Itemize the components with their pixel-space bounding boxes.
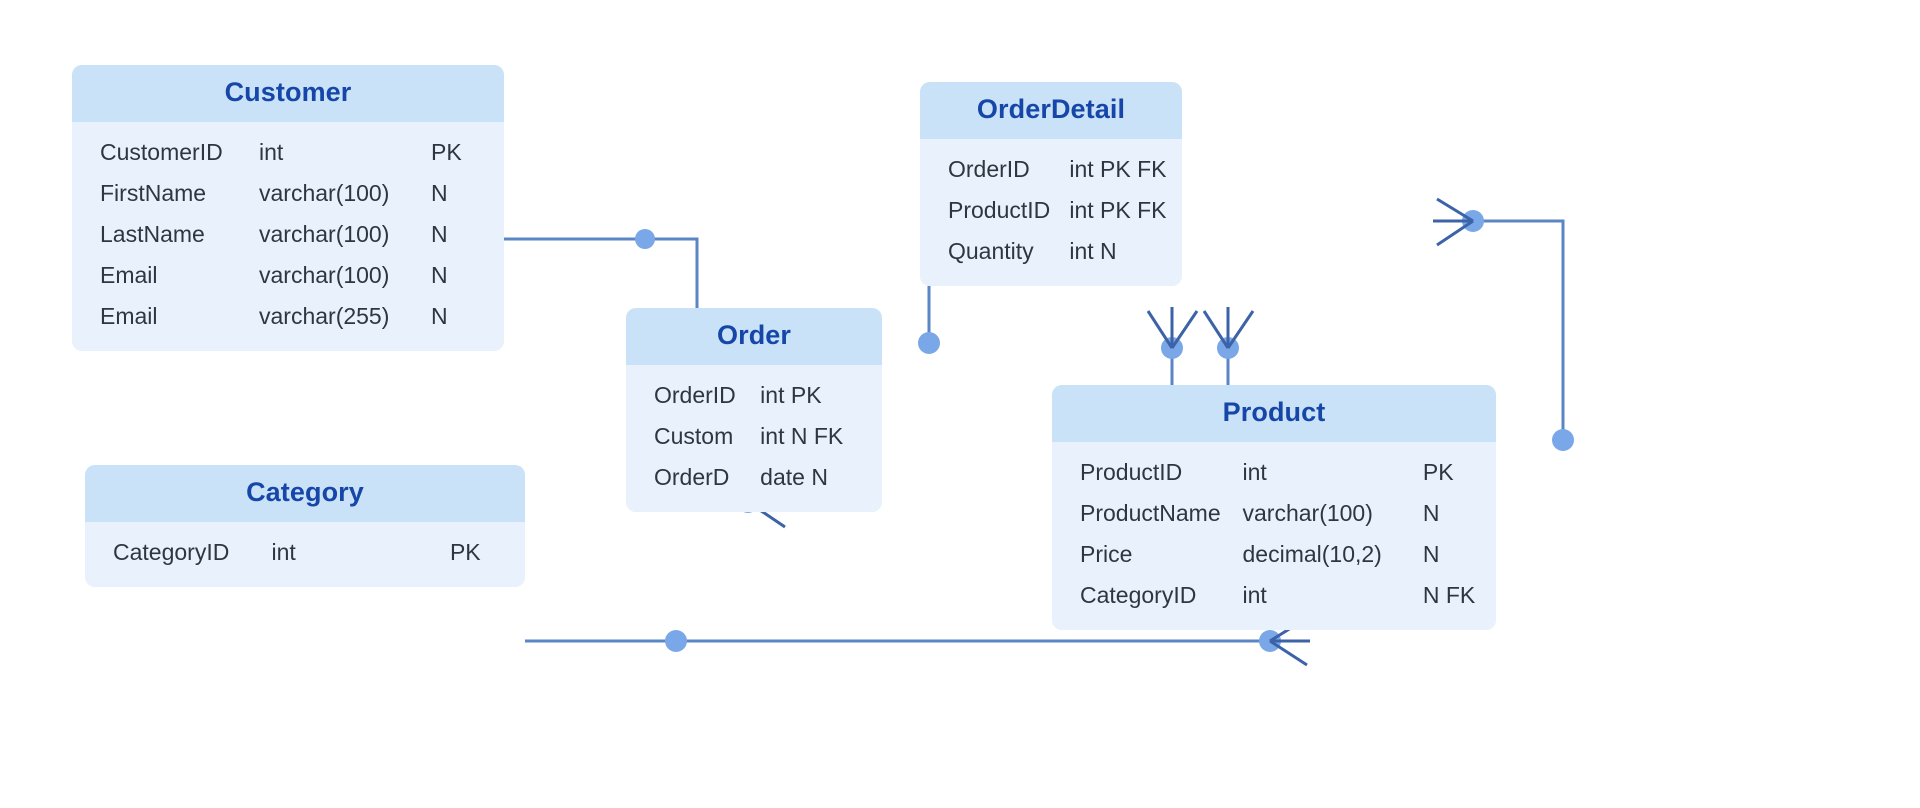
attribute-key: N bbox=[1423, 543, 1496, 566]
attribute-row[interactable]: CategoryID int PK bbox=[85, 532, 525, 573]
edge-endpoint-dot bbox=[1259, 630, 1281, 652]
attribute-type: int bbox=[271, 541, 449, 564]
attribute-name: OrderID bbox=[626, 384, 760, 407]
edge-endpoint-dot bbox=[1462, 210, 1484, 232]
attribute-key: N bbox=[431, 182, 504, 205]
attribute-type: varchar(100) bbox=[259, 182, 431, 205]
attribute-type: int bbox=[1243, 584, 1423, 607]
attribute-row[interactable]: ProductName varchar(100) N bbox=[1052, 493, 1496, 534]
attribute-type: varchar(255) bbox=[259, 305, 431, 328]
attribute-type: decimal(10,2) bbox=[1243, 543, 1423, 566]
attribute-row[interactable]: OrderID int PK bbox=[626, 375, 882, 416]
attribute-key: PK bbox=[450, 541, 525, 564]
entity-customer[interactable]: Customer CustomerID int PK FirstName var… bbox=[72, 65, 504, 351]
crowsfoot-marker bbox=[1148, 307, 1197, 348]
attribute-name: Price bbox=[1052, 543, 1243, 566]
attribute-type: int N FK bbox=[760, 425, 882, 448]
attribute-type: int PK FK bbox=[1069, 158, 1182, 181]
attribute-name: FirstName bbox=[72, 182, 259, 205]
entity-attributes-product: ProductID int PK ProductName varchar(100… bbox=[1052, 442, 1496, 630]
attribute-name: CustomerID bbox=[72, 141, 259, 164]
attribute-type: int bbox=[1243, 461, 1423, 484]
entity-attributes-category: CategoryID int PK bbox=[85, 522, 525, 587]
attribute-name: Email bbox=[72, 264, 259, 287]
attribute-name: CategoryID bbox=[85, 541, 271, 564]
attribute-row[interactable]: CategoryID int N FK bbox=[1052, 575, 1496, 616]
attribute-key: PK bbox=[431, 141, 504, 164]
attribute-key: N bbox=[431, 264, 504, 287]
entity-title-orderdetail: OrderDetail bbox=[920, 82, 1182, 139]
entity-category[interactable]: Category CategoryID int PK bbox=[85, 465, 525, 587]
crowsfoot-marker bbox=[1204, 307, 1253, 348]
attribute-row[interactable]: Quantity int N bbox=[920, 231, 1182, 272]
entity-title-category: Category bbox=[85, 465, 525, 522]
attribute-type: date N bbox=[760, 466, 882, 489]
edge-endpoint-dot bbox=[635, 229, 655, 249]
attribute-key: N bbox=[431, 305, 504, 328]
attribute-row[interactable]: Custom int N FK bbox=[626, 416, 882, 457]
attribute-name: LastName bbox=[72, 223, 259, 246]
attribute-name: ProductID bbox=[920, 199, 1069, 222]
attribute-name: ProductName bbox=[1052, 502, 1243, 525]
entity-product[interactable]: Product ProductID int PK ProductName var… bbox=[1052, 385, 1496, 630]
attribute-name: Quantity bbox=[920, 240, 1069, 263]
attribute-type: varchar(100) bbox=[259, 264, 431, 287]
attribute-name: OrderID bbox=[920, 158, 1069, 181]
attribute-type: int N bbox=[1069, 240, 1182, 263]
edge-endpoint-dot bbox=[1161, 337, 1183, 359]
edge-endpoint-dot bbox=[665, 630, 687, 652]
entity-order[interactable]: Order OrderID int PK Custom int N FK Ord… bbox=[626, 308, 882, 512]
attribute-row[interactable]: ProductID int PK bbox=[1052, 452, 1496, 493]
attribute-row[interactable]: LastName varchar(100) N bbox=[72, 214, 504, 255]
attribute-name: Custom bbox=[626, 425, 760, 448]
attribute-name: Email bbox=[72, 305, 259, 328]
attribute-key: N bbox=[1423, 502, 1496, 525]
entity-attributes-orderdetail: OrderID int PK FK ProductID int PK FK Qu… bbox=[920, 139, 1182, 286]
edge-endpoint-dot bbox=[1552, 429, 1574, 451]
entity-attributes-order: OrderID int PK Custom int N FK OrderD da… bbox=[626, 365, 882, 512]
attribute-name: CategoryID bbox=[1052, 584, 1243, 607]
attribute-key: N FK bbox=[1423, 584, 1496, 607]
attribute-row[interactable]: OrderID int PK FK bbox=[920, 149, 1182, 190]
attribute-row[interactable]: OrderD date N bbox=[626, 457, 882, 498]
edge-endpoint-dot bbox=[1217, 337, 1239, 359]
entity-title-customer: Customer bbox=[72, 65, 504, 122]
attribute-type: int PK FK bbox=[1069, 199, 1182, 222]
attribute-type: int bbox=[259, 141, 431, 164]
attribute-row[interactable]: FirstName varchar(100) N bbox=[72, 173, 504, 214]
entity-orderdetail[interactable]: OrderDetail OrderID int PK FK ProductID … bbox=[920, 82, 1182, 286]
attribute-row[interactable]: ProductID int PK FK bbox=[920, 190, 1182, 231]
attribute-type: varchar(100) bbox=[259, 223, 431, 246]
attribute-row[interactable]: Email varchar(255) N bbox=[72, 296, 504, 337]
attribute-key: PK bbox=[1423, 461, 1496, 484]
attribute-row[interactable]: CustomerID int PK bbox=[72, 132, 504, 173]
entity-title-order: Order bbox=[626, 308, 882, 365]
attribute-type: varchar(100) bbox=[1243, 502, 1423, 525]
attribute-name: ProductID bbox=[1052, 461, 1243, 484]
attribute-row[interactable]: Email varchar(100) N bbox=[72, 255, 504, 296]
attribute-row[interactable]: Price decimal(10,2) N bbox=[1052, 534, 1496, 575]
attribute-key: N bbox=[431, 223, 504, 246]
attribute-type: int PK bbox=[760, 384, 882, 407]
edge-endpoint-dot bbox=[918, 332, 940, 354]
crowsfoot-marker bbox=[1433, 199, 1473, 245]
attribute-name: OrderD bbox=[626, 466, 760, 489]
er-diagram-canvas: Customer CustomerID int PK FirstName var… bbox=[0, 0, 1920, 808]
entity-attributes-customer: CustomerID int PK FirstName varchar(100)… bbox=[72, 122, 504, 351]
entity-title-product: Product bbox=[1052, 385, 1496, 442]
